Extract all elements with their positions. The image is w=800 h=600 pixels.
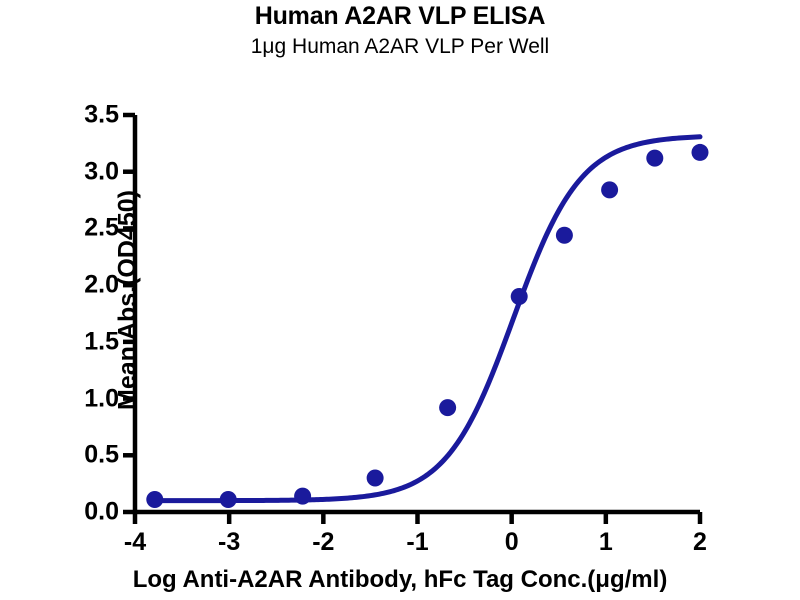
data-point [367, 469, 384, 486]
axis-lines [135, 115, 700, 512]
data-point [220, 491, 237, 508]
data-point [294, 488, 311, 505]
data-point [146, 491, 163, 508]
data-point [439, 399, 456, 416]
data-point [601, 181, 618, 198]
data-point [646, 150, 663, 167]
data-points [146, 144, 708, 508]
axis-ticks [123, 115, 700, 524]
plot-area [0, 0, 800, 600]
chart-figure: Human A2AR VLP ELISA 1μg Human A2AR VLP … [0, 0, 800, 600]
data-point [556, 227, 573, 244]
fit-curve [155, 137, 700, 501]
data-point [511, 288, 528, 305]
data-point [692, 144, 709, 161]
